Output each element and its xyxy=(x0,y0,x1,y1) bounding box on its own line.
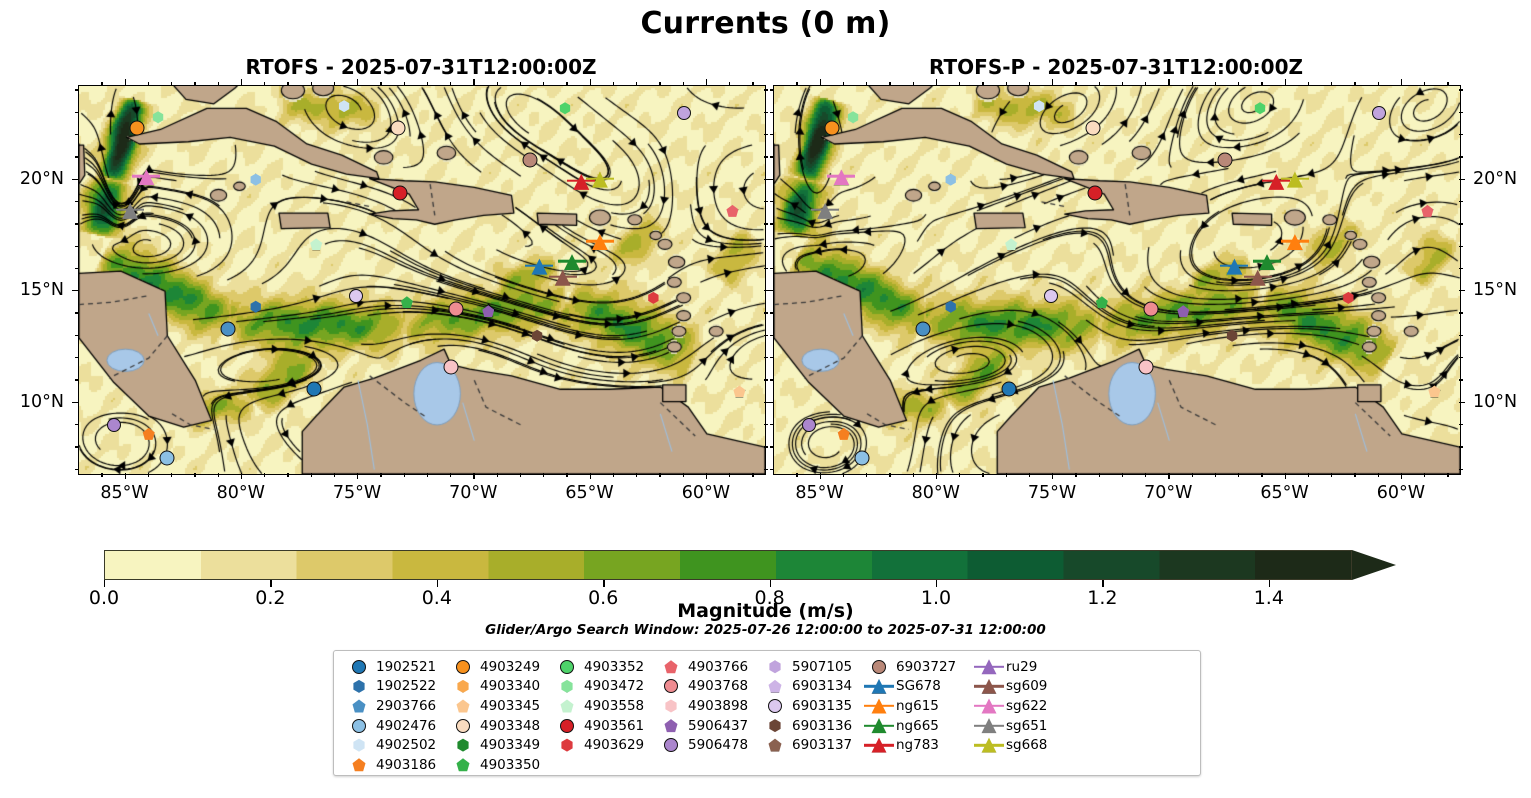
x-tick-label: 60°W xyxy=(1377,483,1425,503)
x-minor-tick xyxy=(101,473,102,477)
x-tick xyxy=(1285,473,1286,479)
legend-marker-circ-icon xyxy=(758,696,792,715)
y-minor-tick xyxy=(1459,424,1463,425)
legend-column: 1902521190252229037664902476490250249031… xyxy=(342,657,446,775)
legend-item[interactable]: ng783 xyxy=(862,735,972,755)
legend-item[interactable]: 4903349 xyxy=(446,735,550,755)
x-minor-tick xyxy=(1354,473,1355,477)
y-tick xyxy=(72,290,78,291)
legend-marker-circ-icon xyxy=(654,677,688,696)
legend-column: 6903727SG678ng615ng665ng783 xyxy=(862,657,972,775)
y-tick-label: 10°N xyxy=(20,392,64,412)
y-minor-tick xyxy=(770,469,774,470)
figure-title: Currents (0 m) xyxy=(0,6,1531,41)
legend-label: 4903898 xyxy=(688,698,748,714)
x-minor-tick xyxy=(959,82,960,86)
x-minor-tick xyxy=(404,473,405,477)
y-tick xyxy=(72,179,78,180)
x-minor-tick xyxy=(636,82,637,86)
legend-item[interactable]: 4903561 xyxy=(550,716,654,736)
legend-item[interactable]: 6903136 xyxy=(758,716,862,736)
y-minor-tick xyxy=(770,89,774,90)
y-minor-tick xyxy=(764,357,768,358)
x-tick xyxy=(125,79,126,85)
x-minor-tick xyxy=(1145,473,1146,477)
y-minor-tick xyxy=(764,312,768,313)
x-minor-tick xyxy=(566,473,567,477)
y-tick-label: 15°N xyxy=(1473,280,1517,300)
platform-marker-4903898[interactable] xyxy=(444,359,459,374)
legend-label: 4903349 xyxy=(480,737,540,753)
x-minor-tick xyxy=(1192,473,1193,477)
x-minor-tick xyxy=(1447,473,1448,477)
y-minor-tick xyxy=(764,379,768,380)
legend-label: 6903135 xyxy=(792,698,852,714)
legend-item[interactable]: 6903134 xyxy=(758,677,862,697)
x-minor-tick xyxy=(659,82,660,86)
x-tick xyxy=(1285,79,1286,85)
legend-column: 59071056903134690313569031366903137 xyxy=(758,657,862,775)
platform-marker-5907105[interactable] xyxy=(1372,106,1386,120)
legend-item[interactable]: 4902476 xyxy=(342,716,446,736)
legend-marker-pent-icon xyxy=(342,755,376,774)
legend-item[interactable]: 4902502 xyxy=(342,735,446,755)
legend-label: ng665 xyxy=(896,718,939,734)
x-tick-label: 80°W xyxy=(912,483,960,503)
legend-marker-hex-icon xyxy=(758,657,792,676)
legend-item[interactable]: SG678 xyxy=(862,677,972,697)
legend-marker-hex-icon xyxy=(654,696,688,715)
legend-item[interactable]: sg609 xyxy=(972,677,1068,697)
legend-item[interactable]: 4903768 xyxy=(654,677,758,697)
colorbar-tick xyxy=(770,580,771,587)
x-tick xyxy=(1168,79,1169,85)
platform-marker-1902521[interactable] xyxy=(306,382,321,397)
x-minor-tick xyxy=(889,473,890,477)
x-tick xyxy=(1052,473,1053,479)
legend-item[interactable]: 6903135 xyxy=(758,696,862,716)
legend-item[interactable]: 1902522 xyxy=(342,677,446,697)
x-tick-label: 85°W xyxy=(795,483,843,503)
legend-item[interactable]: 4903898 xyxy=(654,696,758,716)
legend-item[interactable]: 4903186 xyxy=(342,755,446,775)
y-minor-tick xyxy=(1459,223,1463,224)
x-minor-tick xyxy=(889,82,890,86)
legend-marker-hex-icon xyxy=(446,677,480,696)
legend-item[interactable]: 1902521 xyxy=(342,657,446,677)
y-minor-tick xyxy=(764,89,768,90)
x-minor-tick xyxy=(194,82,195,86)
x-tick-label: 75°W xyxy=(333,483,381,503)
y-tick-label: 20°N xyxy=(1473,169,1517,189)
legend-label: 5906437 xyxy=(688,718,748,734)
x-minor-tick xyxy=(1145,82,1146,86)
x-tick xyxy=(1401,473,1402,479)
x-minor-tick xyxy=(287,82,288,86)
legend-item[interactable]: 4903766 xyxy=(654,657,758,677)
platform-marker-6903135[interactable] xyxy=(349,289,363,303)
legend-label: ru29 xyxy=(1006,659,1037,675)
map-panel-rtofs[interactable] xyxy=(78,85,766,475)
x-minor-tick xyxy=(1308,473,1309,477)
legend-item[interactable]: 5906437 xyxy=(654,716,758,736)
x-minor-tick xyxy=(380,473,381,477)
x-minor-tick xyxy=(171,82,172,86)
x-tick xyxy=(820,473,821,479)
legend-item[interactable]: ng615 xyxy=(862,696,972,716)
x-minor-tick xyxy=(1215,473,1216,477)
colorbar-tick xyxy=(104,580,105,587)
y-minor-tick xyxy=(1459,89,1463,90)
x-minor-tick xyxy=(683,473,684,477)
legend-item[interactable]: sg668 xyxy=(972,735,1068,755)
colorbar-tick xyxy=(270,580,271,587)
platform-marker-4903561[interactable] xyxy=(1087,186,1102,201)
legend-item[interactable]: 4903249 xyxy=(446,657,550,677)
legend-item[interactable]: 6903727 xyxy=(862,657,972,677)
y-tick-label: 10°N xyxy=(1473,392,1517,412)
x-minor-tick xyxy=(796,82,797,86)
legend-column: ru29sg609sg622sg651sg668 xyxy=(972,657,1068,775)
legend-item[interactable]: 6903137 xyxy=(758,735,862,755)
y-minor-tick xyxy=(770,446,774,447)
platform-marker-4902476b[interactable] xyxy=(915,322,930,337)
x-minor-tick xyxy=(194,473,195,477)
platform-marker-4903348[interactable] xyxy=(1085,121,1100,136)
legend-column: 49033524903472490355849035614903629 xyxy=(550,657,654,775)
x-minor-tick xyxy=(1029,82,1030,86)
x-minor-tick xyxy=(543,82,544,86)
y-minor-tick xyxy=(770,335,774,336)
legend-marker-circ-icon xyxy=(446,657,480,676)
platform-marker-5906478[interactable] xyxy=(802,418,816,432)
x-tick xyxy=(473,79,474,85)
legend-label: sg651 xyxy=(1006,718,1047,734)
x-minor-tick xyxy=(1215,82,1216,86)
current-magnitude-field xyxy=(774,86,1460,474)
legend-item[interactable]: ru29 xyxy=(972,657,1068,677)
y-minor-tick xyxy=(75,469,79,470)
y-minor-tick xyxy=(75,201,79,202)
legend-item[interactable]: sg651 xyxy=(972,716,1068,736)
legend-item[interactable]: 4903348 xyxy=(446,716,550,736)
legend-marker-circ-icon xyxy=(550,657,584,676)
x-minor-tick xyxy=(982,473,983,477)
legend-marker-pent-icon xyxy=(758,677,792,696)
y-minor-tick xyxy=(1459,112,1463,113)
x-minor-tick xyxy=(1378,82,1379,86)
colorbar-tick xyxy=(1102,580,1103,587)
legend-label: 4903472 xyxy=(584,678,644,694)
legend-label: 5907105 xyxy=(792,659,852,675)
x-minor-tick xyxy=(311,473,312,477)
legend-marker-hex-icon xyxy=(550,736,584,755)
legend-label: 4903629 xyxy=(584,737,644,753)
platform-marker-4903249[interactable] xyxy=(130,121,145,136)
x-minor-tick xyxy=(866,82,867,86)
legend-label: 4902502 xyxy=(376,737,436,753)
legend-label: 2903766 xyxy=(376,698,436,714)
x-minor-tick xyxy=(520,473,521,477)
y-minor-tick xyxy=(75,156,79,157)
platform-marker-4903768[interactable] xyxy=(448,301,463,316)
legend-item[interactable]: ng665 xyxy=(862,716,972,736)
y-minor-tick xyxy=(770,201,774,202)
platform-marker-4903768[interactable] xyxy=(1143,301,1158,316)
x-minor-tick xyxy=(843,473,844,477)
x-minor-tick xyxy=(1308,82,1309,86)
y-tick xyxy=(72,402,78,403)
x-tick xyxy=(357,473,358,479)
legend-label: 4902476 xyxy=(376,718,436,734)
y-minor-tick xyxy=(764,223,768,224)
x-minor-tick xyxy=(1354,82,1355,86)
legend-label: ng615 xyxy=(896,698,939,714)
legend-label: sg668 xyxy=(1006,737,1047,753)
map-panel-rtofs-p[interactable] xyxy=(773,85,1461,475)
platform-marker-5907105[interactable] xyxy=(677,106,691,120)
legend-marker-pent-icon xyxy=(654,716,688,735)
x-minor-tick xyxy=(497,82,498,86)
legend-item[interactable]: 4903472 xyxy=(550,677,654,697)
legend-marker-circ-icon xyxy=(342,657,376,676)
x-minor-tick xyxy=(218,82,219,86)
platform-marker-6903727[interactable] xyxy=(1218,152,1233,167)
x-tick-label: 70°W xyxy=(1144,483,1192,503)
legend-marker-circ-icon xyxy=(550,716,584,735)
y-minor-tick xyxy=(1459,134,1463,135)
legend-item[interactable]: 4903350 xyxy=(446,755,550,775)
x-minor-tick xyxy=(659,473,660,477)
legend-marker-circ-icon xyxy=(342,716,376,735)
y-minor-tick xyxy=(764,201,768,202)
legend-marker-hex-icon xyxy=(550,677,584,696)
x-minor-tick xyxy=(982,82,983,86)
legend-item[interactable]: sg622 xyxy=(972,696,1068,716)
colorbar-extend-arrow xyxy=(1352,550,1396,580)
x-tick xyxy=(241,79,242,85)
x-minor-tick xyxy=(148,473,149,477)
legend-label: sg622 xyxy=(1006,698,1047,714)
legend-label: 4903348 xyxy=(480,718,540,734)
y-minor-tick xyxy=(764,246,768,247)
y-minor-tick xyxy=(764,268,768,269)
y-minor-tick xyxy=(1459,357,1463,358)
y-minor-tick xyxy=(75,89,79,90)
x-minor-tick xyxy=(1099,82,1100,86)
legend-item[interactable]: 4903352 xyxy=(550,657,654,677)
legend-marker-tri-icon xyxy=(862,716,896,735)
y-minor-tick xyxy=(770,357,774,358)
platform-marker-4903348[interactable] xyxy=(390,121,405,136)
x-minor-tick xyxy=(450,82,451,86)
x-minor-tick xyxy=(1029,473,1030,477)
platform-marker-2903766[interactable] xyxy=(160,451,175,466)
y-minor-tick xyxy=(1459,312,1463,313)
x-minor-tick xyxy=(729,82,730,86)
platform-marker-4903249[interactable] xyxy=(825,121,840,136)
legend-marker-tri-icon xyxy=(862,677,896,696)
y-minor-tick xyxy=(764,424,768,425)
y-tick xyxy=(767,290,773,291)
x-tick xyxy=(590,473,591,479)
legend-item[interactable]: 4903345 xyxy=(446,696,550,716)
legend-marker-circ-icon xyxy=(862,657,896,676)
x-minor-tick xyxy=(843,82,844,86)
x-minor-tick xyxy=(1424,82,1425,86)
y-tick xyxy=(1459,402,1465,403)
platform-marker-5906478[interactable] xyxy=(107,418,121,432)
legend-marker-tri-icon xyxy=(972,696,1006,715)
x-minor-tick xyxy=(1122,82,1123,86)
legend-item[interactable]: 5906478 xyxy=(654,735,758,755)
x-minor-tick xyxy=(171,473,172,477)
x-tick xyxy=(1052,79,1053,85)
legend-marker-hex-icon xyxy=(342,677,376,696)
x-minor-tick xyxy=(566,82,567,86)
platform-marker-6903727[interactable] xyxy=(523,152,538,167)
legend-marker-tri-icon xyxy=(862,736,896,755)
y-minor-tick xyxy=(770,268,774,269)
legend-label: 4903768 xyxy=(688,678,748,694)
panel-title-right: RTOFS-P - 2025-07-31T12:00:00Z xyxy=(773,55,1459,79)
x-minor-tick xyxy=(752,473,753,477)
x-tick-label: 65°W xyxy=(1260,483,1308,503)
y-minor-tick xyxy=(770,379,774,380)
x-minor-tick xyxy=(796,473,797,477)
y-tick-label: 15°N xyxy=(20,280,64,300)
y-minor-tick xyxy=(75,335,79,336)
y-minor-tick xyxy=(75,223,79,224)
y-minor-tick xyxy=(764,134,768,135)
y-minor-tick xyxy=(764,335,768,336)
y-tick-label: 20°N xyxy=(20,169,64,189)
x-minor-tick xyxy=(520,82,521,86)
platform-marker-6903135[interactable] xyxy=(1044,289,1058,303)
x-tick xyxy=(473,473,474,479)
x-minor-tick xyxy=(334,473,335,477)
x-tick xyxy=(357,79,358,85)
x-tick xyxy=(936,79,937,85)
legend-label: 1902522 xyxy=(376,678,436,694)
legend-label: 4903186 xyxy=(376,757,436,773)
legend-item[interactable]: 4903629 xyxy=(550,735,654,755)
colorbar-tick xyxy=(1269,580,1270,587)
x-minor-tick xyxy=(1424,473,1425,477)
x-minor-tick xyxy=(613,82,614,86)
x-minor-tick xyxy=(543,473,544,477)
y-minor-tick xyxy=(75,246,79,247)
x-minor-tick xyxy=(427,473,428,477)
x-minor-tick xyxy=(752,82,753,86)
legend-label: 4903345 xyxy=(480,698,540,714)
x-minor-tick xyxy=(913,473,914,477)
y-minor-tick xyxy=(1459,379,1463,380)
legend-marker-tri-icon xyxy=(862,696,896,715)
legend-column: 49037664903768490389859064375906478 xyxy=(654,657,758,775)
x-tick-label: 75°W xyxy=(1028,483,1076,503)
x-minor-tick xyxy=(1122,473,1123,477)
legend-item[interactable]: 4903340 xyxy=(446,677,550,697)
legend-label: 4903561 xyxy=(584,718,644,734)
current-magnitude-field xyxy=(79,86,765,474)
y-tick xyxy=(767,179,773,180)
colorbar-tick xyxy=(936,580,937,587)
y-minor-tick xyxy=(75,424,79,425)
legend-marker-tri-icon xyxy=(972,736,1006,755)
x-tick xyxy=(125,473,126,479)
legend-item[interactable]: 5907105 xyxy=(758,657,862,677)
platform-marker-4902476b[interactable] xyxy=(220,322,235,337)
legend-marker-hex-icon xyxy=(758,716,792,735)
x-minor-tick xyxy=(729,473,730,477)
y-tick xyxy=(1459,179,1465,180)
y-minor-tick xyxy=(764,446,768,447)
x-minor-tick xyxy=(1238,82,1239,86)
x-minor-tick xyxy=(101,82,102,86)
x-minor-tick xyxy=(1331,82,1332,86)
x-minor-tick xyxy=(683,82,684,86)
colorbar-gradient xyxy=(104,550,1352,580)
legend-marker-circ-icon xyxy=(446,716,480,735)
x-tick xyxy=(1168,473,1169,479)
legend-box: 1902521190252229037664902476490250249031… xyxy=(333,650,1201,776)
x-minor-tick xyxy=(148,82,149,86)
y-minor-tick xyxy=(770,312,774,313)
x-minor-tick xyxy=(1075,473,1076,477)
y-minor-tick xyxy=(1459,201,1463,202)
legend-marker-tri-icon xyxy=(972,677,1006,696)
platform-marker-1902521[interactable] xyxy=(1001,382,1016,397)
legend-marker-circ-icon xyxy=(654,736,688,755)
y-minor-tick xyxy=(764,112,768,113)
x-minor-tick xyxy=(264,473,265,477)
y-minor-tick xyxy=(75,268,79,269)
x-minor-tick xyxy=(1006,82,1007,86)
legend-label: 6903727 xyxy=(896,659,956,675)
y-minor-tick xyxy=(1459,156,1463,157)
legend-marker-hex-icon xyxy=(446,736,480,755)
legend-item[interactable]: 4903558 xyxy=(550,696,654,716)
legend-item[interactable]: 2903766 xyxy=(342,696,446,716)
legend-marker-hex-icon xyxy=(342,736,376,755)
legend-label: SG678 xyxy=(896,678,941,694)
y-minor-tick xyxy=(1459,268,1463,269)
x-minor-tick xyxy=(866,473,867,477)
y-minor-tick xyxy=(1459,446,1463,447)
colorbar-label: Magnitude (m/s) xyxy=(0,600,1531,622)
y-minor-tick xyxy=(75,379,79,380)
legend-marker-pent-icon xyxy=(654,657,688,676)
legend-label: 4903340 xyxy=(480,678,540,694)
y-minor-tick xyxy=(75,312,79,313)
x-tick xyxy=(820,79,821,85)
legend-label: 4903352 xyxy=(584,659,644,675)
platform-marker-4903898[interactable] xyxy=(1139,359,1154,374)
y-minor-tick xyxy=(1459,246,1463,247)
legend-label: 4903350 xyxy=(480,757,540,773)
x-minor-tick xyxy=(264,82,265,86)
x-tick xyxy=(706,79,707,85)
x-minor-tick xyxy=(1261,473,1262,477)
x-minor-tick xyxy=(1261,82,1262,86)
x-minor-tick xyxy=(380,82,381,86)
platform-marker-4903561[interactable] xyxy=(392,186,407,201)
legend-label: 6903137 xyxy=(792,737,852,753)
x-minor-tick xyxy=(1006,473,1007,477)
platform-marker-2903766[interactable] xyxy=(855,451,870,466)
y-minor-tick xyxy=(770,424,774,425)
